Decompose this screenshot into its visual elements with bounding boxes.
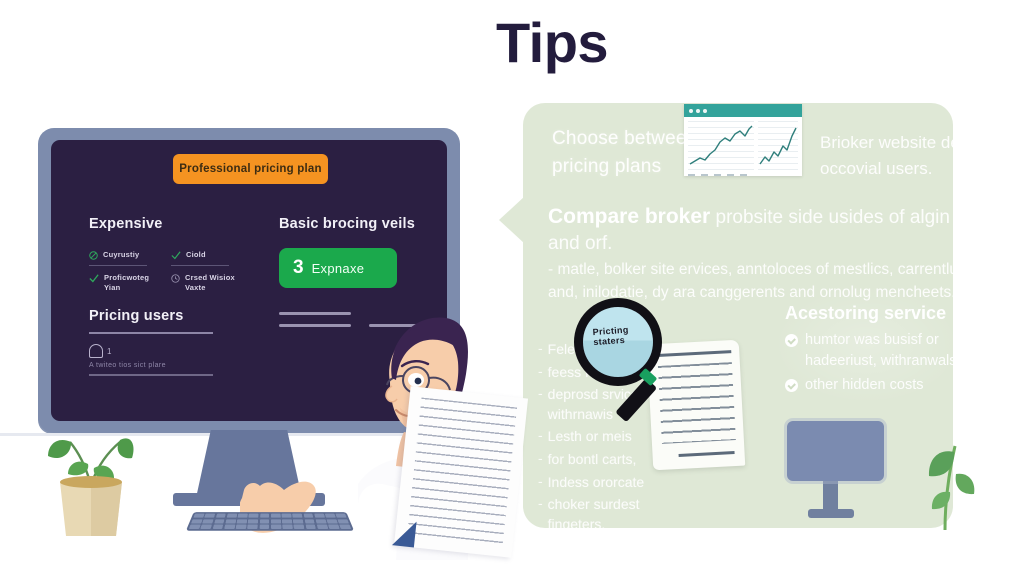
key (225, 519, 236, 523)
document-icon (394, 386, 528, 557)
pricing-user-count: 1 (107, 347, 111, 356)
key (271, 514, 281, 518)
list-item: - Indess ororcate (538, 473, 658, 493)
document-footer-line (679, 451, 735, 457)
pricing-user-row[interactable]: 1 (89, 344, 111, 358)
dash-bullet-icon: - (538, 473, 543, 493)
feature-item[interactable]: Ciold (171, 250, 206, 260)
key (314, 514, 325, 518)
check-circle-icon (785, 379, 798, 392)
screen-heading-expensive: Expensive (89, 216, 163, 232)
divider (89, 374, 213, 376)
document-text-lines (407, 397, 517, 546)
key (203, 519, 214, 523)
window-dot-icon (689, 109, 693, 113)
key (191, 519, 202, 523)
chart-body (684, 117, 802, 176)
monitor-back-icon (787, 421, 884, 481)
key (200, 524, 211, 528)
chart-secondary-pane (758, 121, 798, 172)
potted-plant-icon (44, 424, 136, 539)
feature-item[interactable]: Proficwoteg Yian (89, 273, 164, 293)
key (339, 524, 351, 528)
key (212, 524, 223, 528)
key (315, 519, 326, 523)
key (247, 524, 257, 528)
check-circle-icon (785, 334, 798, 347)
key (237, 519, 247, 523)
panel-heading-choose-plans: Choose between pricing plans (552, 125, 702, 180)
user-icon (89, 344, 103, 358)
dash-bullet-icon: - (538, 427, 543, 447)
key (249, 514, 259, 518)
key (215, 514, 226, 518)
key (204, 514, 215, 518)
feature-item-label: Cuyrustiy (103, 250, 139, 260)
dash-bullet-icon: - (538, 450, 543, 470)
feature-item[interactable]: Cuyrustiy (89, 250, 139, 260)
key (328, 524, 339, 528)
screen-heading-pricing-users: Pricing users (89, 308, 183, 324)
professional-plan-badge-label: Professional pricing plan (179, 163, 321, 175)
key (293, 519, 303, 523)
feature-item-label: Crsed Wisiox Vaxte (185, 273, 245, 293)
key (317, 524, 328, 528)
chart-xtick (688, 174, 695, 176)
window-dot-icon (703, 109, 707, 113)
list-item: humtor was busisf or hadeeriust, withran… (785, 330, 980, 372)
panel-service-block: Acestoring service humtor was busisf or … (785, 303, 980, 399)
dash-bullet-icon: - (538, 340, 543, 360)
key (224, 524, 235, 528)
dash-bullet-icon: - (538, 363, 543, 383)
chart-xtick (714, 174, 721, 176)
key (214, 519, 225, 523)
browser-window-titlebar (684, 104, 802, 117)
divider (89, 332, 213, 334)
panel-compare-bold: Compare broker (548, 205, 710, 228)
chart-primary-line (688, 121, 754, 172)
check-icon (171, 251, 181, 260)
divider (89, 265, 147, 266)
document-fold-corner (392, 519, 417, 547)
chart-xtick (740, 174, 747, 176)
key (282, 519, 292, 523)
magnifier-icon: Pricting staters (574, 298, 694, 428)
key (325, 514, 336, 518)
key (259, 519, 269, 523)
window-dot-icon (696, 109, 700, 113)
list-item-label: Indess ororcate (548, 473, 645, 493)
list-item-label: other hidden costs (805, 375, 924, 396)
key (259, 524, 269, 528)
key (305, 524, 316, 528)
feature-item[interactable]: Crsed Wisiox Vaxte (171, 273, 245, 293)
feature-item-label: Proficwoteg Yian (104, 273, 164, 293)
page-title-text: Tips (416, 11, 608, 74)
key (236, 524, 247, 528)
keyboard-icon[interactable] (186, 512, 354, 531)
key (282, 514, 292, 518)
list-item-label: for bontl carts, (548, 450, 637, 470)
chart-primary-pane (688, 121, 754, 172)
key (338, 519, 349, 523)
list-item-label: choker surdest fingeters. (548, 495, 658, 534)
key (294, 524, 305, 528)
key (193, 514, 204, 518)
professional-plan-badge[interactable]: Professional pricing plan (173, 154, 328, 184)
list-item: other hidden costs (785, 375, 980, 396)
key (248, 519, 258, 523)
panel-service-title: Acestoring service (785, 303, 980, 324)
panel-compare-block: Compare broker probsite side usides of a… (548, 203, 968, 304)
screen-heading-basic-brocing: Basic brocing veils (279, 216, 415, 232)
chart-xtick (727, 174, 734, 176)
key (336, 514, 347, 518)
key (282, 524, 292, 528)
illustration-canvas: Tips Choose between pricing plans Brioke… (0, 0, 1024, 585)
list-item: - choker surdest fingeters. (538, 495, 658, 534)
list-item: - Lesth or meis (538, 427, 658, 447)
key (260, 514, 270, 518)
list-item-label: Lesth or meis (548, 427, 632, 447)
key (303, 514, 313, 518)
no-entry-icon (89, 251, 98, 260)
speech-bubble-tail (499, 196, 525, 244)
plant-sprig-icon (905, 430, 977, 530)
list-item: - for bontl carts, (538, 450, 658, 470)
divider (171, 265, 229, 266)
chart-xtick (701, 174, 708, 176)
panel-heading-broker-website: Brioker website de occovial users. (820, 130, 970, 181)
key (227, 514, 237, 518)
key (304, 519, 315, 523)
key (189, 524, 201, 528)
dash-bullet-icon: - (538, 495, 543, 534)
key (292, 514, 302, 518)
key (238, 514, 248, 518)
page-title: Tips (0, 12, 1024, 74)
key (326, 519, 337, 523)
feature-item-label: Ciold (186, 250, 206, 260)
pricing-user-caption: A twiteo tios sict plare (89, 362, 166, 369)
magnifier-lens-label: Pricting staters (592, 323, 653, 347)
chart-widget (684, 104, 802, 176)
list-item-label: humtor was busisf or hadeeriust, withran… (805, 330, 980, 372)
chart-secondary-line (758, 121, 798, 172)
clock-icon (171, 274, 180, 283)
check-icon (89, 274, 99, 283)
key (271, 519, 281, 523)
chart-xtick-group (688, 174, 747, 176)
key (271, 524, 281, 528)
dash-bullet-icon: - (538, 385, 543, 424)
